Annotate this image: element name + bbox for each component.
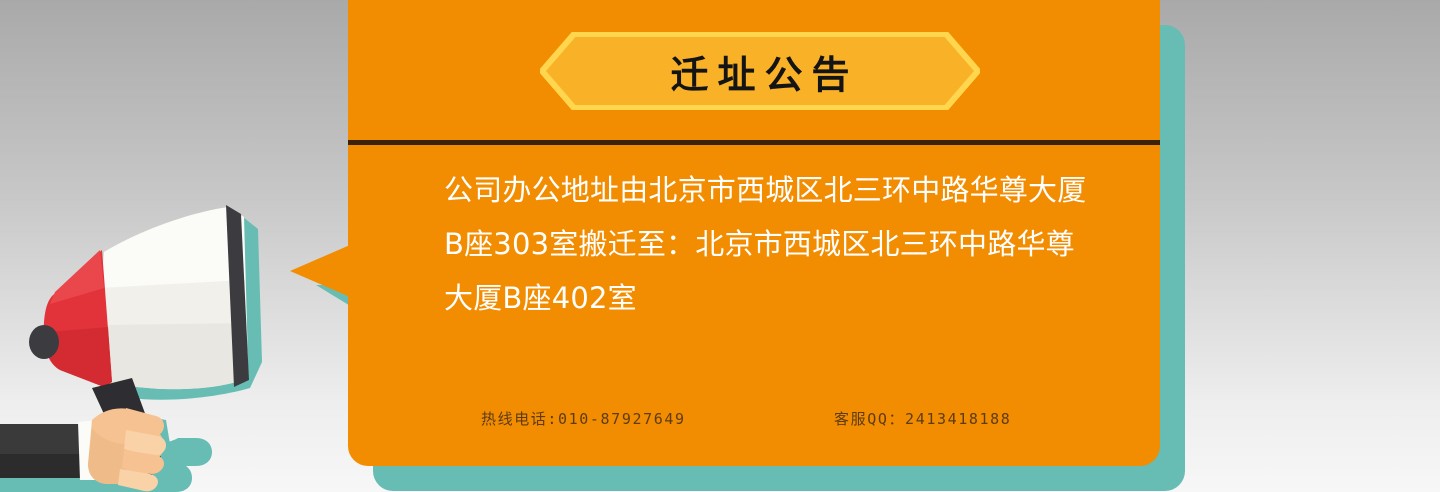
contact-footer: 热线电话:010-87927649 客服QQ：2413418188 [444, 408, 1104, 429]
announcement-body: 公司办公地址由北京市西城区北三环中路华尊大厦B座303室搬迁至：北京市西城区北三… [444, 163, 1104, 325]
banner-title: 迁址公告 [540, 32, 980, 110]
qq-text: 客服QQ：2413418188 [834, 408, 1011, 429]
megaphone-icon [0, 192, 320, 492]
title-ribbon: 迁址公告 [540, 32, 980, 110]
relocation-announcement-banner: 迁址公告 公司办公地址由北京市西城区北三环中路华尊大厦B座303室搬迁至：北京市… [0, 0, 1440, 492]
speech-bubble-pointer [290, 245, 350, 297]
header-divider [348, 140, 1160, 145]
hotline-text: 热线电话:010-87927649 [444, 408, 834, 429]
